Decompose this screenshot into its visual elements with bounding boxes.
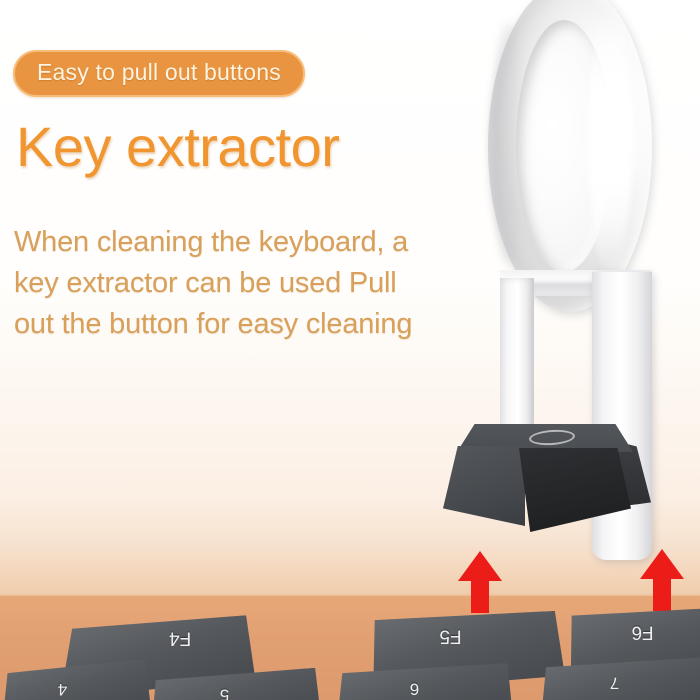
arrow-head: [640, 549, 684, 579]
arrow-shaft: [653, 578, 671, 611]
keycap-face-left: [443, 446, 525, 526]
key-label: F6: [631, 620, 653, 642]
tool-ring-highlight: [588, 8, 632, 276]
keycap-face-right: [519, 448, 631, 532]
description-line-1: When cleaning the keyboard, a: [14, 222, 514, 263]
key-label: F4: [169, 627, 191, 649]
key-label: F5: [439, 625, 461, 647]
product-promo-image: F4 F5 F6 4 5 6 7 Easy to pull out button…: [0, 0, 700, 700]
page-title: Key extractor: [16, 118, 339, 177]
key-label: 7: [610, 672, 619, 692]
description-text: When cleaning the keyboard, a key extrac…: [14, 222, 514, 345]
key-label: 5: [220, 685, 229, 700]
key-label: 6: [410, 678, 419, 698]
up-arrow-icon: [640, 549, 684, 611]
tool-leg-bridge-shading: [528, 282, 594, 296]
extracted-keycap: [435, 424, 655, 536]
arrow-shaft: [471, 580, 489, 613]
description-line-2: key extractor can be used Pull: [14, 263, 514, 304]
up-arrow-icon: [458, 551, 502, 613]
description-line-3: out the button for easy cleaning: [14, 304, 514, 345]
key-label: 4: [58, 679, 67, 699]
promo-badge: Easy to pull out buttons: [13, 50, 305, 97]
arrow-head: [458, 551, 502, 581]
